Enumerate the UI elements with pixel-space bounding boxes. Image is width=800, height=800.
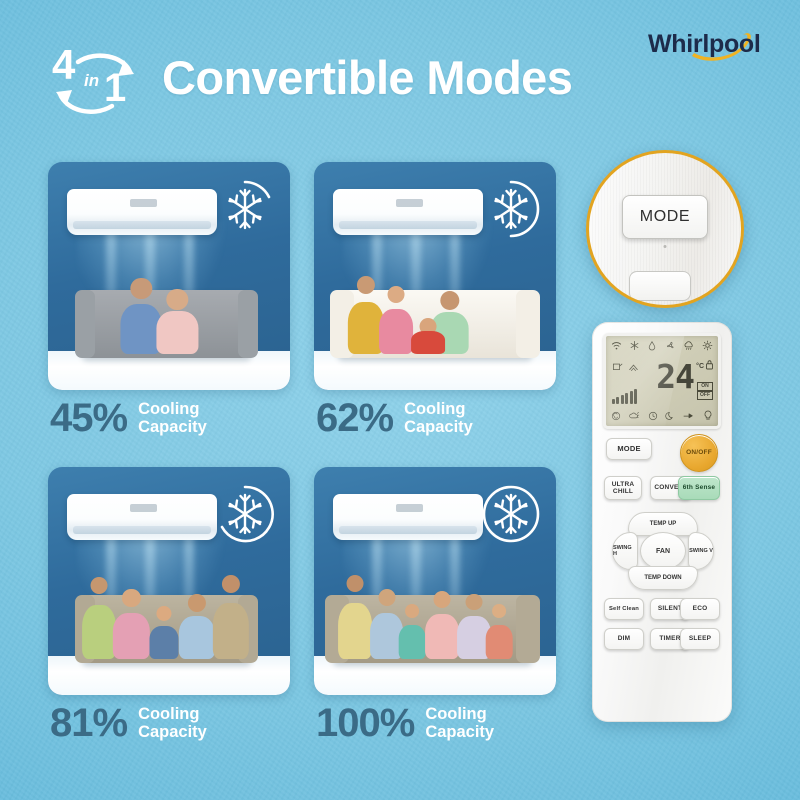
ac-indoor-unit-icon [67,494,217,540]
capacity-card-45: 45% Cooling Capacity [48,162,290,390]
capacity-card-62: 62% Cooling Capacity [314,162,556,390]
temp-down-button[interactable]: TEMP DOWN [628,566,698,590]
lcd-temperature-unit: °C [696,363,704,371]
sixth-sense-button[interactable]: 6th Sense [678,476,720,500]
capacity-percent: 45% [50,398,127,438]
scene-photo [48,467,290,695]
light-bulb-icon [703,410,713,421]
capacity-label: Cooling Capacity [404,400,473,437]
ultra-chill-button[interactable]: ULTRA CHILL [604,476,642,500]
capacity-label: Cooling Capacity [425,705,494,742]
remote-lcd-display: 24 °C ON OFF [603,333,721,429]
capacity-label-line1: Cooling [138,400,207,418]
page-title: Convertible Modes [162,50,572,105]
swing-v-button[interactable]: SWING V [688,532,714,570]
capacity-caption: 45% Cooling Capacity [50,398,207,438]
magnified-adjacent-button[interactable] [629,271,691,301]
cloud-icon [683,340,695,351]
lcd-unit-celsius: °C [696,363,704,370]
magnified-mode-button[interactable]: MODE [622,195,708,239]
capacity-label-line1: Cooling [138,705,207,723]
ac-indoor-unit-icon [67,189,217,235]
capacity-caption: 62% Cooling Capacity [316,398,473,438]
capacity-label-line1: Cooling [425,705,494,723]
led-dot-icon [664,245,667,248]
lcd-on-label: ON [697,382,713,391]
people-group [48,554,290,659]
badge-number-one: 1 [104,68,126,108]
scene-photo [314,162,556,390]
badge-word-in: in [84,72,99,89]
scene-photo [314,467,556,695]
people-group [48,249,290,354]
capacity-label: Cooling Capacity [138,705,207,742]
four-in-one-badge: 4 in 1 [44,48,148,118]
people-group [314,554,556,659]
directional-pad: TEMP UP SWING H FAN SWING V TEMP DOWN [612,512,714,590]
capacity-caption: 81% Cooling Capacity [50,703,207,743]
eco-button[interactable]: ECO [680,598,720,620]
capacity-label-line2: Capacity [138,418,207,436]
ac-indoor-unit-icon [333,189,483,235]
dim-button[interactable]: DIM [604,628,644,650]
capacity-card-100: 100% Cooling Capacity [314,467,556,695]
self-clean-button[interactable]: Self Clean [604,598,644,620]
snowflake-gauge-icon [480,178,542,240]
badge-number-four: 4 [52,44,75,86]
arrow-icon [683,411,695,420]
capacity-label-line2: Capacity [138,723,207,741]
snowflake-gauge-icon [480,483,542,545]
lock-icon [705,359,714,370]
people-group [314,249,556,354]
capacity-panel-grid: 45% Cooling Capacity [48,162,568,762]
capacity-label-line2: Capacity [425,723,494,741]
ac-indoor-unit-icon [333,494,483,540]
fan-button[interactable]: FAN [640,532,686,570]
ultra-chill-line1: ULTRA [612,481,635,488]
mode-button[interactable]: MODE [606,438,652,460]
lcd-off-label: OFF [697,391,713,400]
sun-icon [702,340,713,351]
capacity-percent: 100% [316,703,414,743]
capacity-label-line2: Capacity [404,418,473,436]
capacity-percent: 81% [50,703,127,743]
remote-button-pad: MODE ON/OFF ULTRA CHILL CONVERT 6th Sens… [602,438,722,706]
swing-h-button[interactable]: SWING H [612,532,638,570]
ultra-chill-line2: CHILL [612,488,635,495]
snowflake-gauge-icon [214,178,276,240]
capacity-label-line1: Cooling [404,400,473,418]
ac-remote-control: 24 °C ON OFF [592,322,732,722]
on-off-button[interactable]: ON/OFF [680,434,718,472]
mode-button-magnifier: MODE [586,150,744,308]
snowflake-gauge-icon [214,483,276,545]
capacity-card-81: 81% Cooling Capacity [48,467,290,695]
capacity-label: Cooling Capacity [138,400,207,437]
lcd-on-off-indicator: ON OFF [697,382,713,400]
poster-canvas: Whirlpool 4 in 1 Convertible Modes [0,0,800,800]
scene-photo [48,162,290,390]
capacity-caption: 100% Cooling Capacity [316,703,494,743]
whirlpool-logo: Whirlpool [648,24,778,68]
sleep-button[interactable]: SLEEP [680,628,720,650]
whirlpool-wordmark: Whirlpool [648,30,761,59]
capacity-percent: 62% [316,398,393,438]
